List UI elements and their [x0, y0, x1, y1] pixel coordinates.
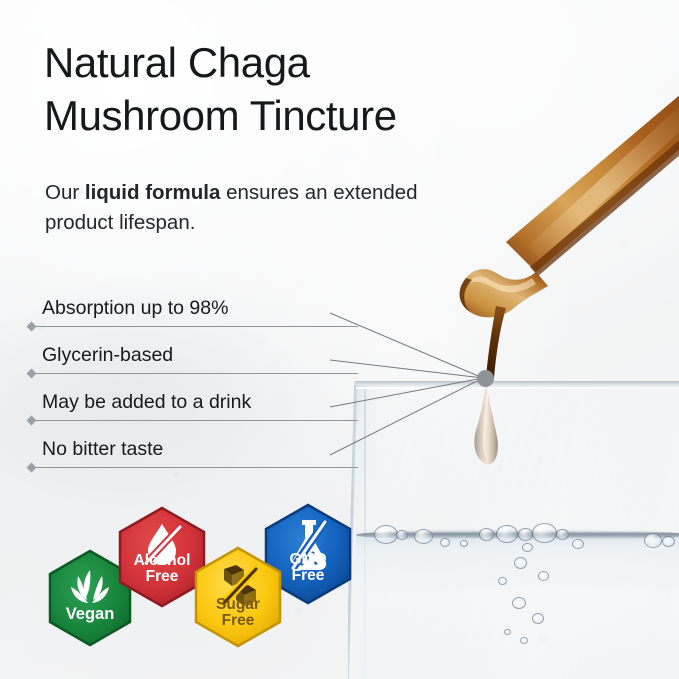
feature-rule: [34, 467, 358, 468]
subtitle: Our liquid formula ensures an extended p…: [45, 178, 445, 238]
feature-item: Absorption up to 98%: [28, 280, 358, 327]
bubble: [514, 557, 527, 569]
bubble: [522, 543, 533, 552]
bubble: [644, 533, 662, 548]
bubble: [662, 536, 675, 547]
feature-item: No bitter taste: [28, 421, 358, 468]
feature-item: Glycerin-based: [28, 327, 358, 374]
feature-label: Glycerin-based: [42, 344, 173, 366]
feature-label: No bitter taste: [42, 438, 163, 460]
bubble: [414, 529, 433, 544]
page-title: Natural Chaga Mushroom Tincture: [44, 36, 604, 142]
bubble: [440, 538, 450, 547]
bubble: [532, 613, 544, 624]
subtitle-pre: Our: [45, 181, 85, 204]
badge-sugar-free: Sugar Free: [186, 545, 290, 649]
bubble: [374, 525, 398, 544]
bubble: [396, 530, 408, 540]
bubble: [504, 629, 511, 635]
bubble: [556, 529, 569, 540]
feature-label: Absorption up to 98%: [42, 297, 228, 319]
connector-hub-dot: [477, 370, 494, 387]
feature-item: May be added to a drink: [28, 374, 358, 421]
bubble: [532, 523, 557, 543]
bubble: [538, 571, 549, 581]
subtitle-bold: liquid formula: [85, 181, 221, 204]
falling-tincture-drop: [472, 383, 500, 473]
feature-label: May be added to a drink: [42, 391, 251, 413]
bubble: [512, 597, 526, 609]
bubble: [498, 577, 507, 585]
feature-list: Absorption up to 98% Glycerin-based May …: [28, 280, 358, 468]
certification-badges: Vegan Alcohol Free: [40, 500, 360, 645]
glass-of-water: [348, 381, 679, 679]
bubble: [479, 528, 494, 541]
bubble: [572, 539, 584, 549]
bubble: [520, 637, 528, 644]
bubble: [460, 540, 468, 547]
bubble: [496, 525, 518, 543]
product-infographic: Natural Chaga Mushroom Tincture Our liqu…: [0, 0, 679, 679]
bubble: [518, 528, 533, 541]
